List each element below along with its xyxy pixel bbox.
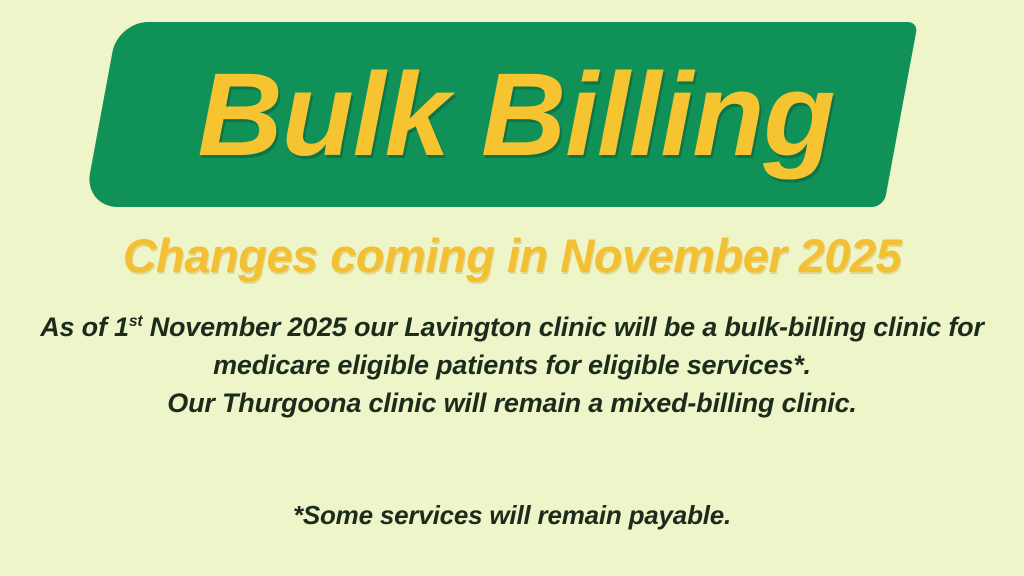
- body-line-1-before: As of 1: [40, 312, 129, 342]
- ordinal-suffix: st: [129, 313, 143, 330]
- body-paragraph: As of 1st November 2025 our Lavington cl…: [0, 308, 1024, 422]
- body-line-3: Our Thurgoona clinic will remain a mixed…: [0, 384, 1024, 422]
- body-line-2: medicare eligible patients for eligible …: [0, 346, 1024, 384]
- footnote: *Some services will remain payable.: [0, 498, 1024, 532]
- banner: Bulk Billing: [0, 22, 1024, 207]
- page-title: Bulk Billing: [0, 22, 1024, 207]
- body-line-1: As of 1st November 2025 our Lavington cl…: [0, 308, 1024, 346]
- body-line-1-after: November 2025 our Lavington clinic will …: [142, 312, 983, 342]
- bulk-billing-poster: Bulk Billing Changes coming in November …: [0, 0, 1024, 576]
- subtitle: Changes coming in November 2025: [0, 228, 1024, 283]
